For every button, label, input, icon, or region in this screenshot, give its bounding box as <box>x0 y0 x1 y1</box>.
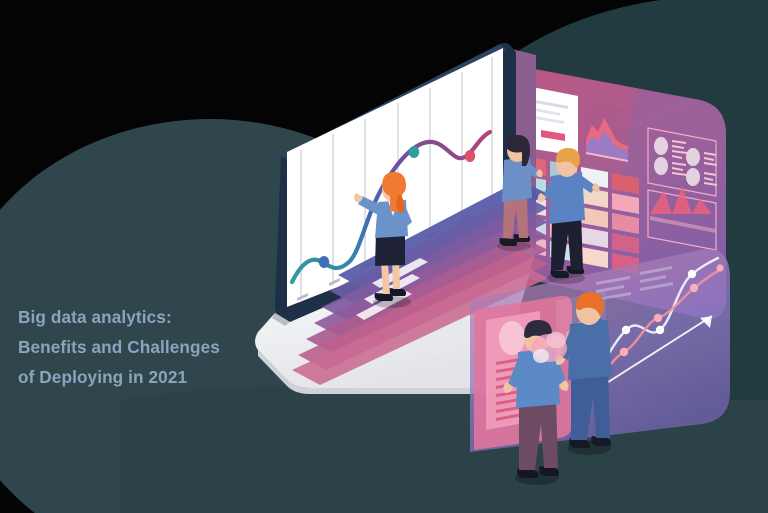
article-headline: Big data analytics: Benefits and Challen… <box>18 302 280 392</box>
scene-svg <box>0 0 768 513</box>
laptop-dot <box>306 327 318 333</box>
headline-line-1: Big data analytics: <box>18 302 280 332</box>
torso <box>568 320 612 380</box>
area-chart-card <box>584 100 628 162</box>
profile-avatar <box>499 321 525 355</box>
headline-line-2: Benefits and Challenges <box>18 332 280 362</box>
headline-line-3: of Deploying in 2021 <box>18 362 280 392</box>
torso <box>549 172 585 224</box>
illustration-banner: Big data analytics: Benefits and Challen… <box>0 0 768 513</box>
